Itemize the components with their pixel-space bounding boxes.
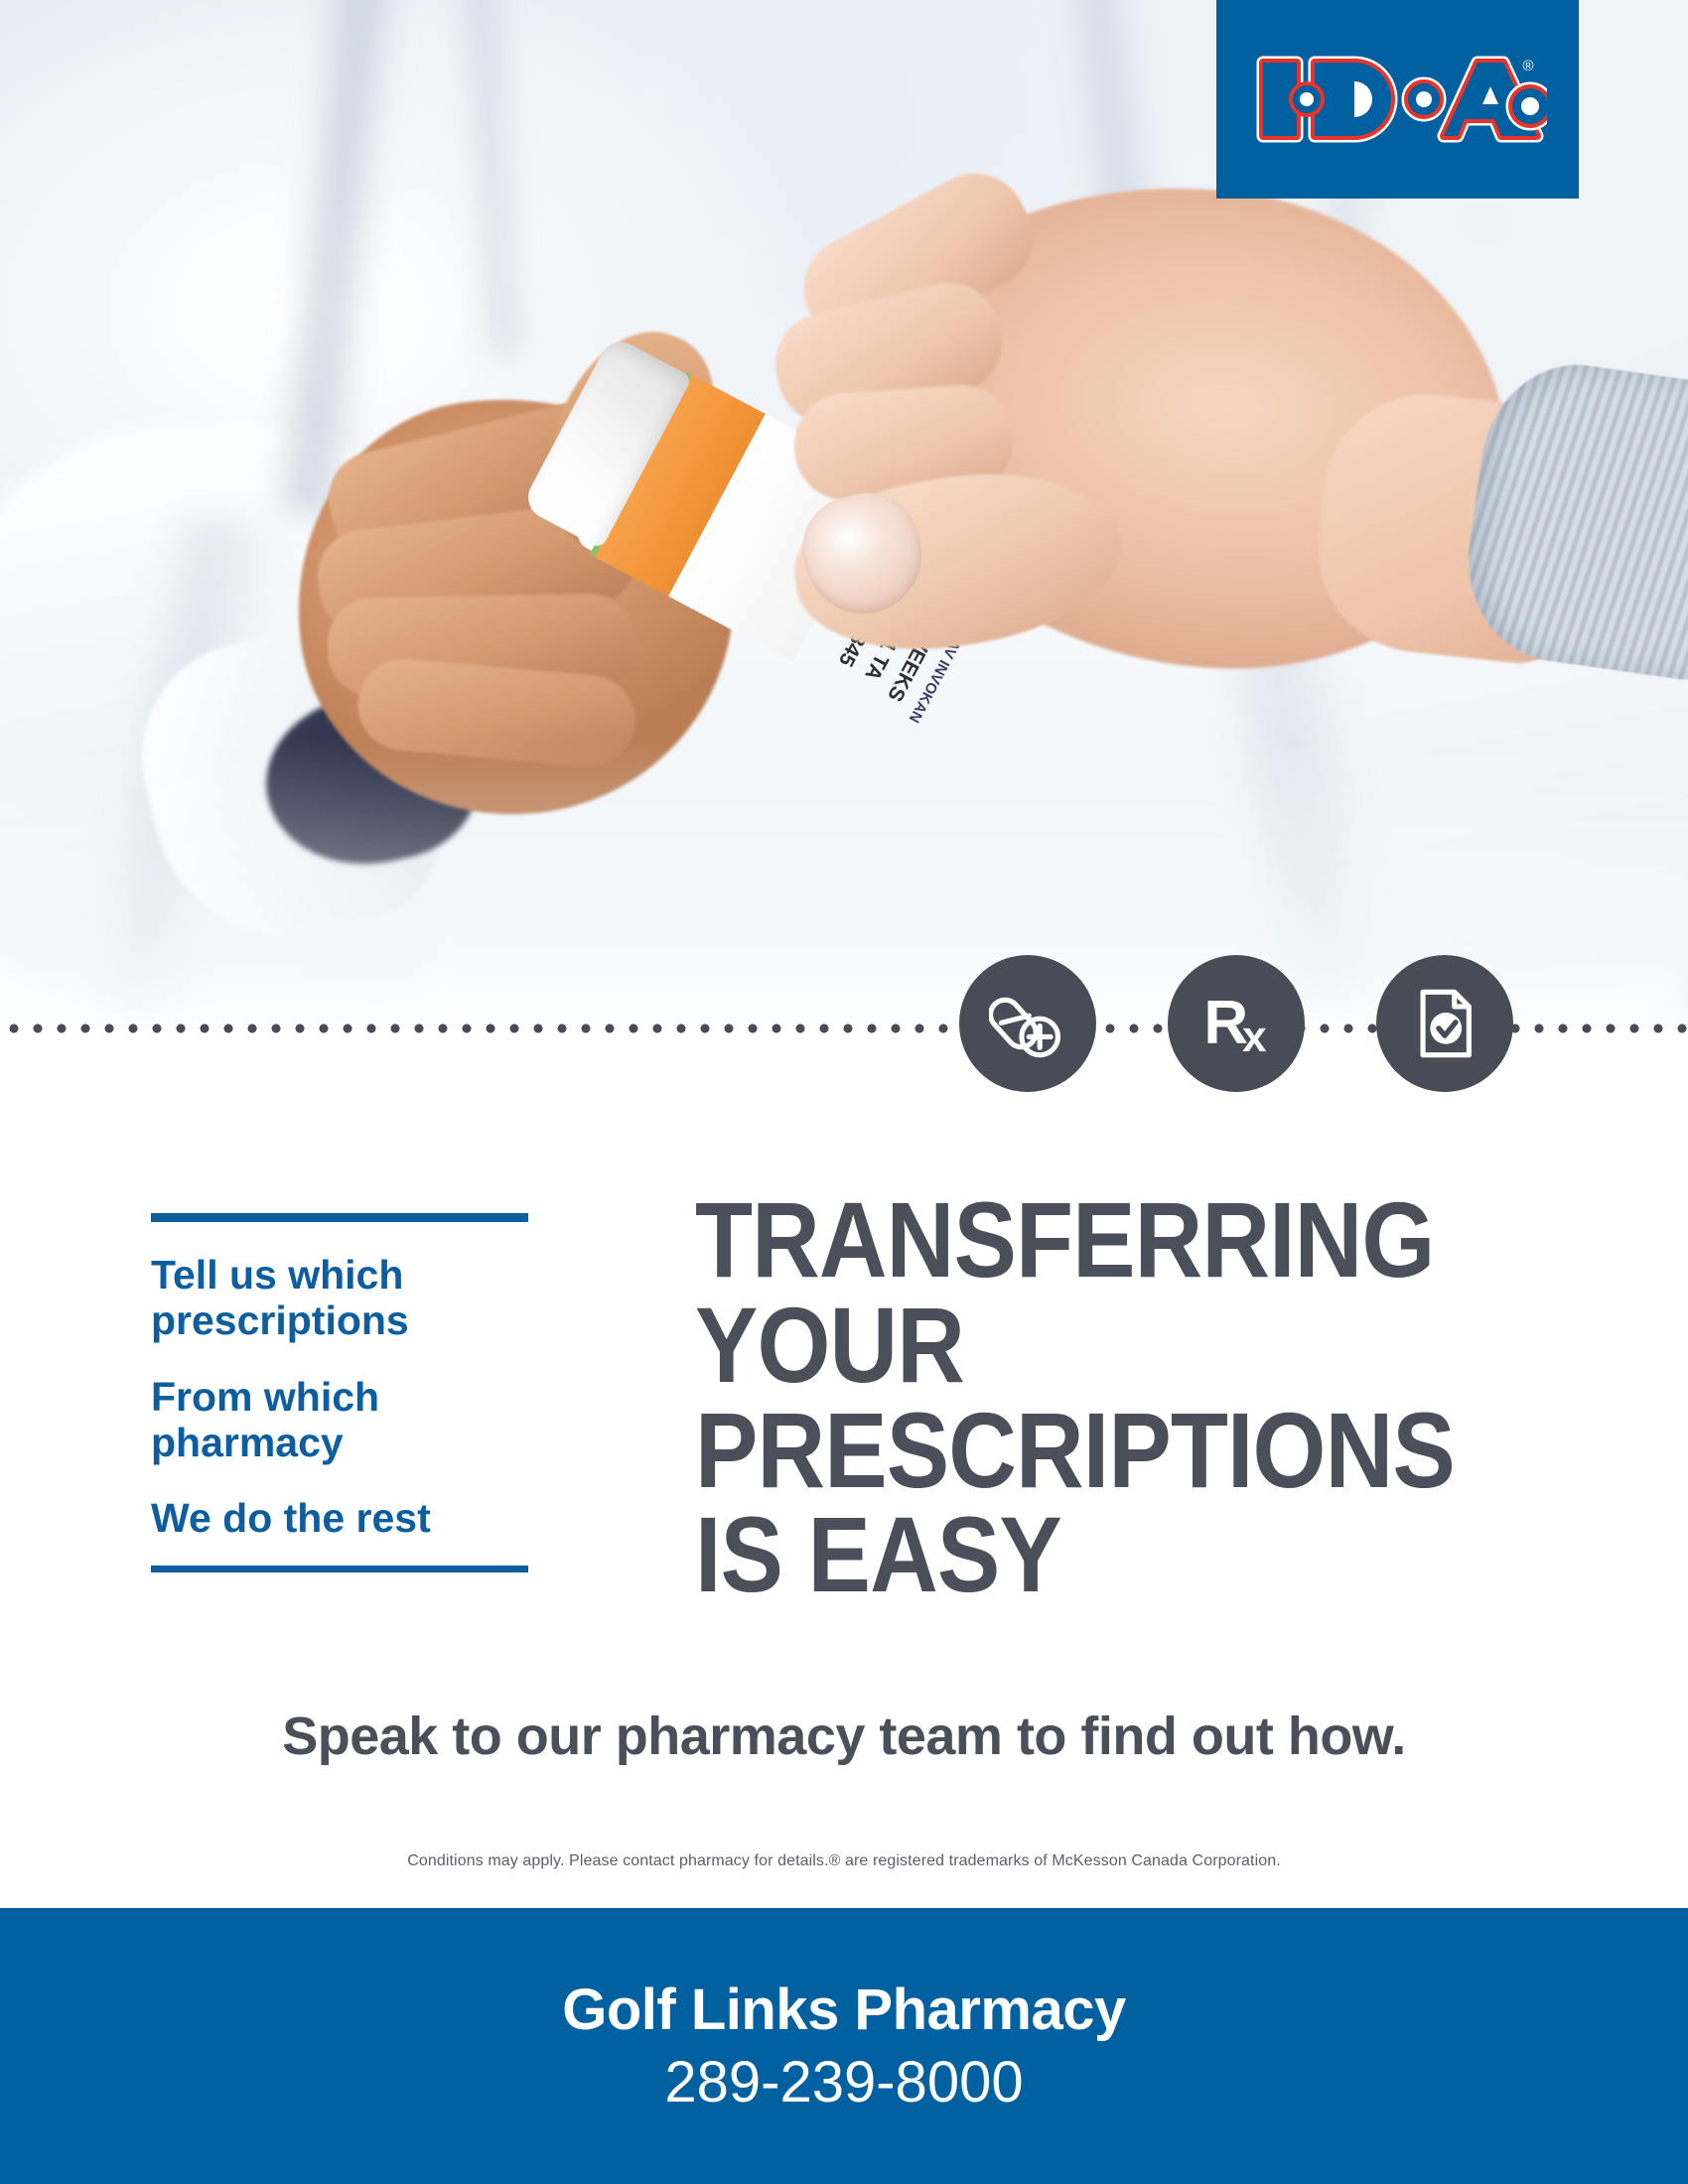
svg-text:®: ® (1522, 58, 1533, 74)
page-title: TRANSFERRING YOUR PRESCRIPTIONS IS EASY (695, 1187, 1464, 1607)
step-item-1: Tell us which prescriptions (151, 1252, 528, 1344)
pharmacy-name: Golf Links Pharmacy (562, 1977, 1125, 2043)
icon-row: Rx (0, 941, 1688, 1120)
steps-rule-bottom (151, 1566, 528, 1572)
subheadline: Speak to our pharmacy team to find out h… (0, 1706, 1688, 1767)
rx-glyph: Rx (1203, 993, 1268, 1054)
rx-icon: Rx (1168, 955, 1305, 1092)
ida-logo-mark: ® (1249, 45, 1547, 154)
steps-list: Tell us which prescriptions From which p… (151, 1213, 528, 1572)
document-check-glyph (1406, 985, 1483, 1062)
headline-line-1: TRANSFERRING (695, 1187, 1464, 1293)
pills-plus-icon (959, 955, 1096, 1092)
headline-line-4: IS EASY (695, 1502, 1464, 1607)
pharmacy-phone[interactable]: 289-239-8000 (664, 2049, 1023, 2116)
headline-line-2: YOUR (695, 1293, 1464, 1398)
legal-fineprint: Conditions may apply. Please contact pha… (0, 1852, 1688, 1870)
pills-plus-glyph (989, 985, 1066, 1062)
rx-letter-r: R (1203, 989, 1246, 1057)
step-item-3: We do the rest (151, 1495, 528, 1541)
rx-letter-x: x (1242, 1013, 1264, 1061)
footer-bar: Golf Links Pharmacy 289-239-8000 (0, 1908, 1688, 2184)
ida-logo: ® (1216, 0, 1579, 199)
steps-rule-top (151, 1213, 528, 1222)
document-check-icon (1376, 955, 1513, 1092)
step-item-2: From which pharmacy (151, 1374, 528, 1466)
headline-line-3: PRESCRIPTIONS (695, 1398, 1464, 1503)
